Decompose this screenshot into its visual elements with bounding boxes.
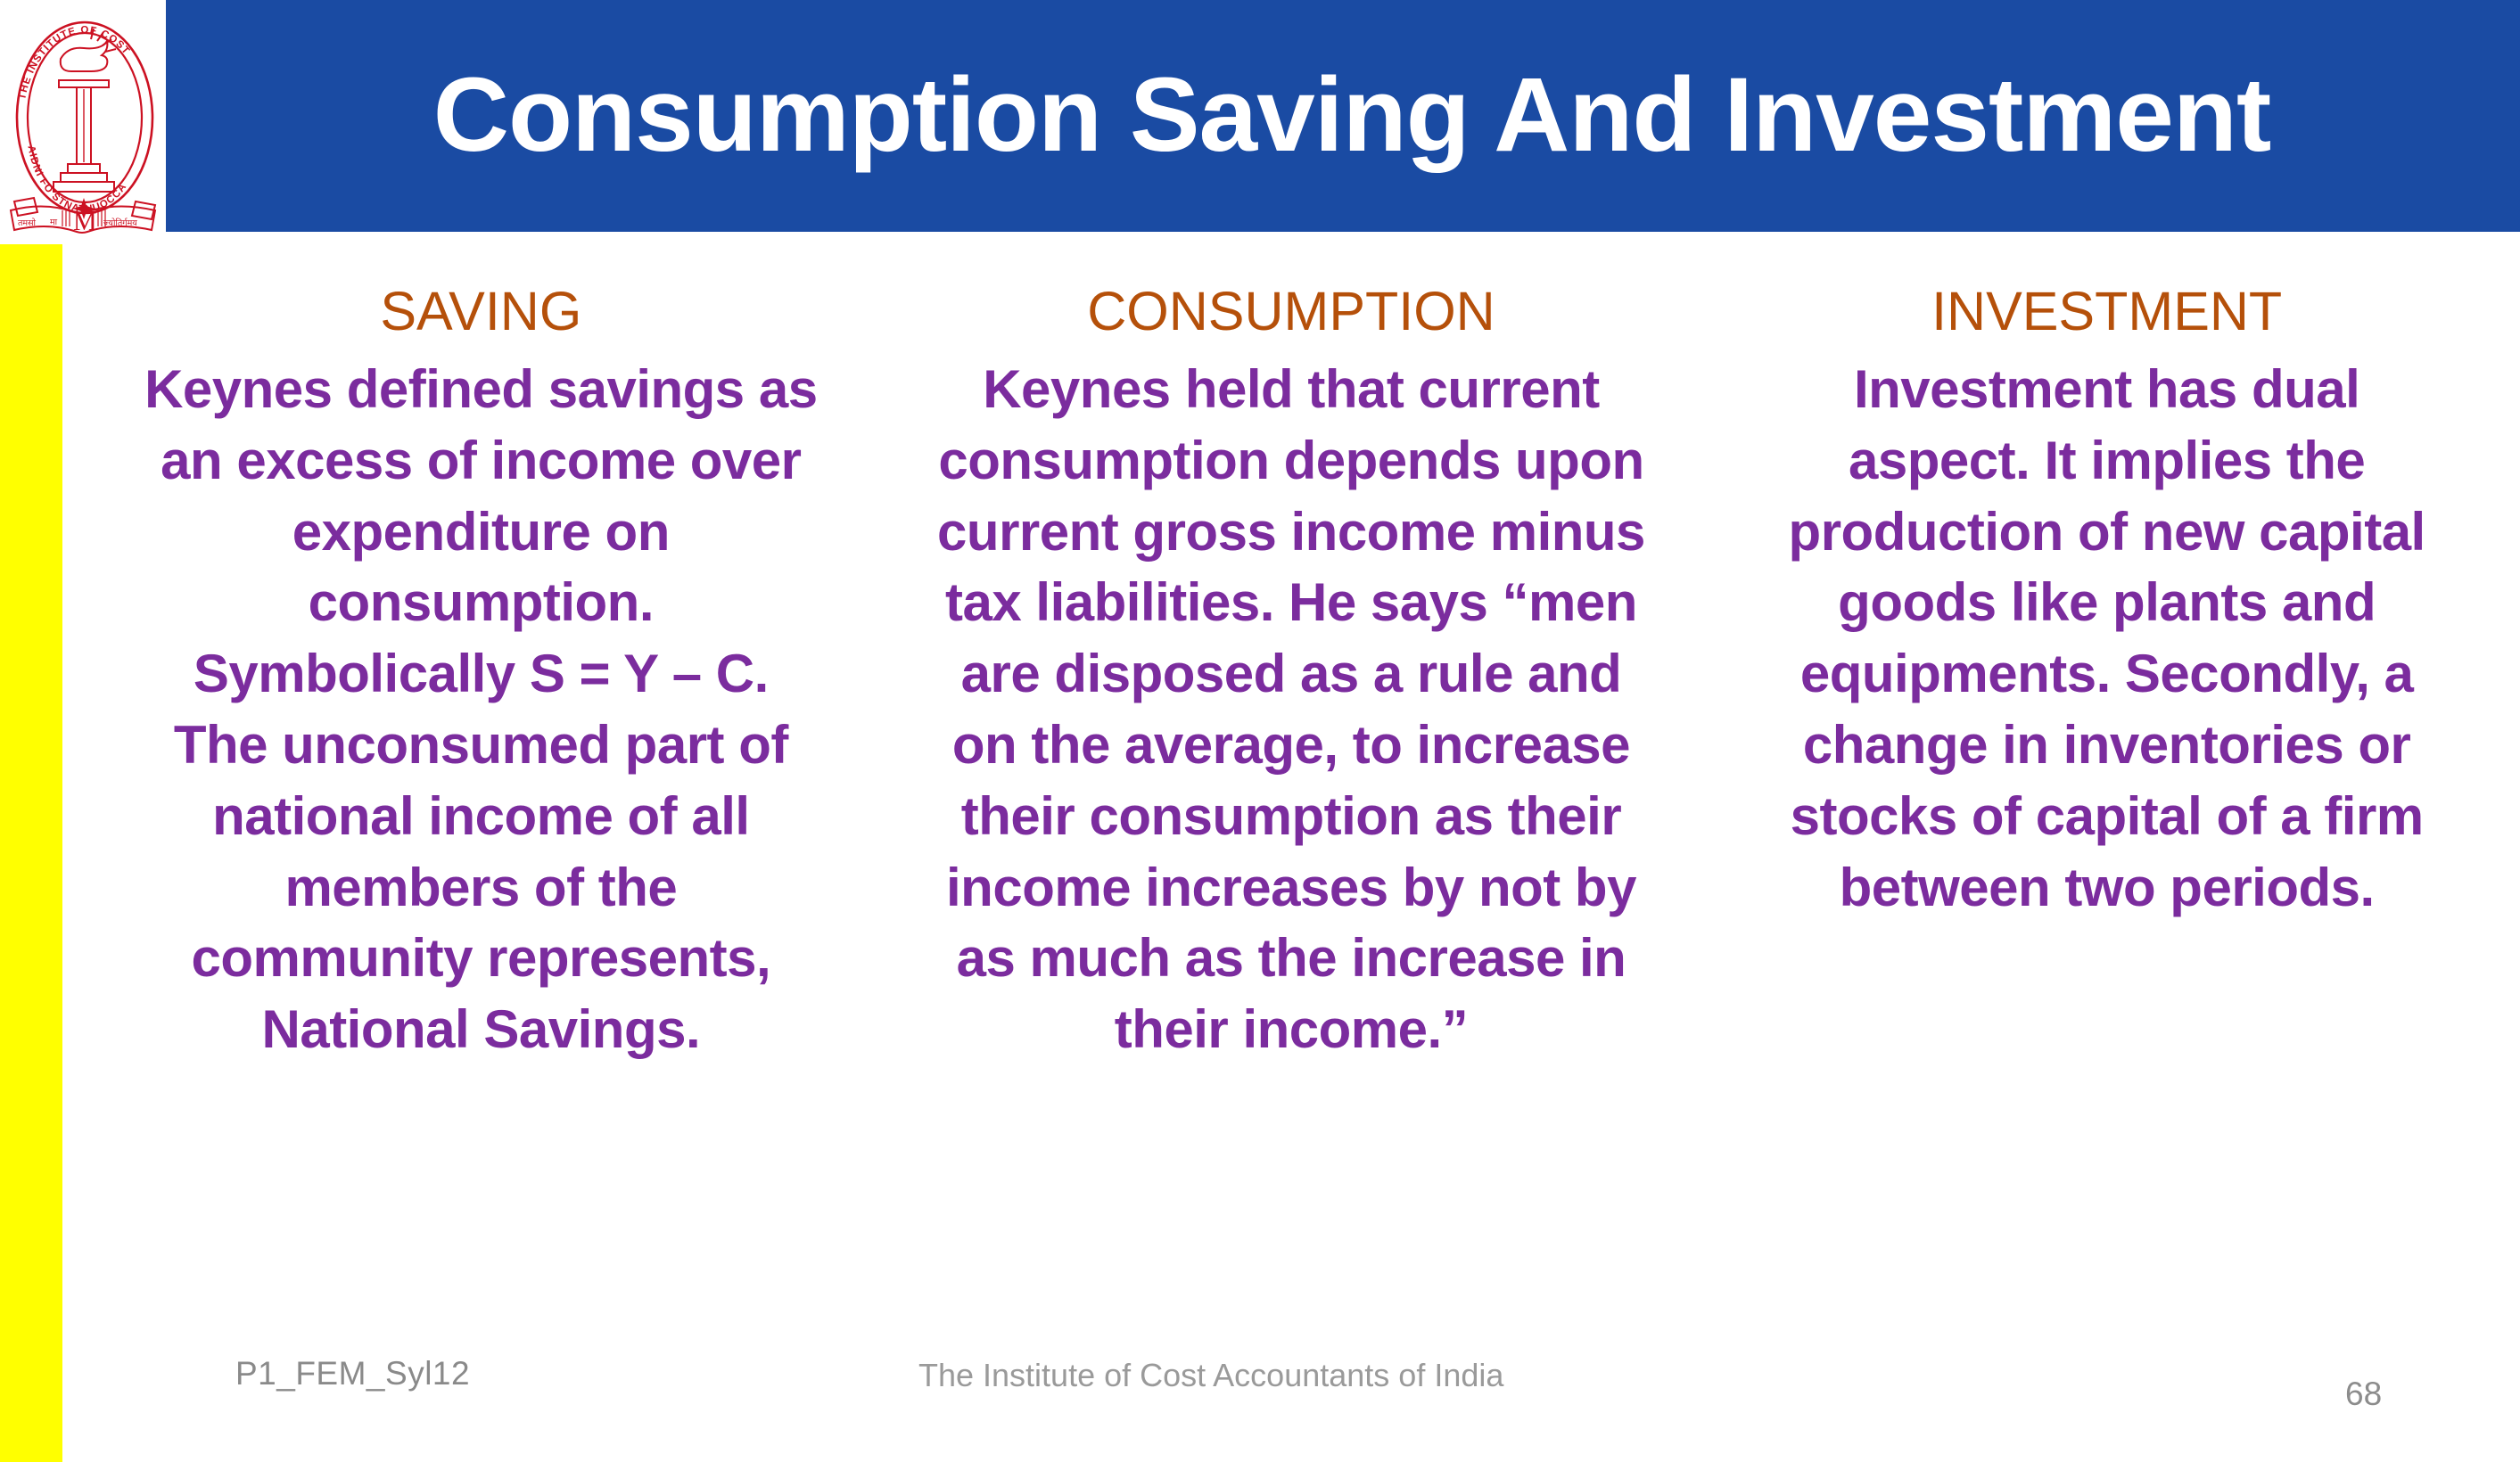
column-heading-investment: INVESTMENT	[1763, 282, 2450, 341]
column-body-saving: Keynes defined savings as an excess of i…	[143, 354, 819, 1065]
column-heading-saving: SAVING	[143, 282, 819, 341]
svg-text:THE INSTITUTE OF COST: THE INSTITUTE OF COST	[17, 25, 132, 101]
column-consumption: CONSUMPTION Keynes held that current con…	[882, 282, 1701, 1065]
accent-bar-left	[0, 244, 62, 1462]
svg-text:तमसो: तमसो	[18, 218, 37, 228]
footer-page-number: 68	[2345, 1376, 2382, 1413]
column-investment: INVESTMENT Investment has dual aspect. I…	[1701, 282, 2520, 923]
footer-syllabus-code: P1_FEM_Syl12	[235, 1355, 470, 1392]
content-columns: SAVING Keynes defined savings as an exce…	[62, 282, 2520, 1065]
page-title: Consumption Saving And Investment	[416, 61, 2271, 171]
institute-logo: THE INSTITUTE OF COST AIDNI FO STNATNUOC…	[5, 4, 164, 237]
slide: Consumption Saving And Investment THE IN…	[0, 0, 2520, 1462]
svg-text:मा: मा	[50, 218, 58, 227]
column-saving: SAVING Keynes defined savings as an exce…	[62, 282, 882, 1065]
header-bar: Consumption Saving And Investment	[166, 0, 2520, 232]
svg-text:ज्योतिर्गमय: ज्योतिर्गमय	[103, 218, 137, 228]
column-body-investment: Investment has dual aspect. It implies t…	[1763, 354, 2450, 923]
column-heading-consumption: CONSUMPTION	[935, 282, 1648, 341]
footer-institute-name: The Institute of Cost Accountants of Ind…	[918, 1357, 1503, 1394]
column-body-consumption: Keynes held that current consumption dep…	[935, 354, 1648, 1065]
svg-text:M: M	[73, 207, 97, 236]
institute-logo-icon: THE INSTITUTE OF COST AIDNI FO STNATNUOC…	[5, 4, 164, 237]
